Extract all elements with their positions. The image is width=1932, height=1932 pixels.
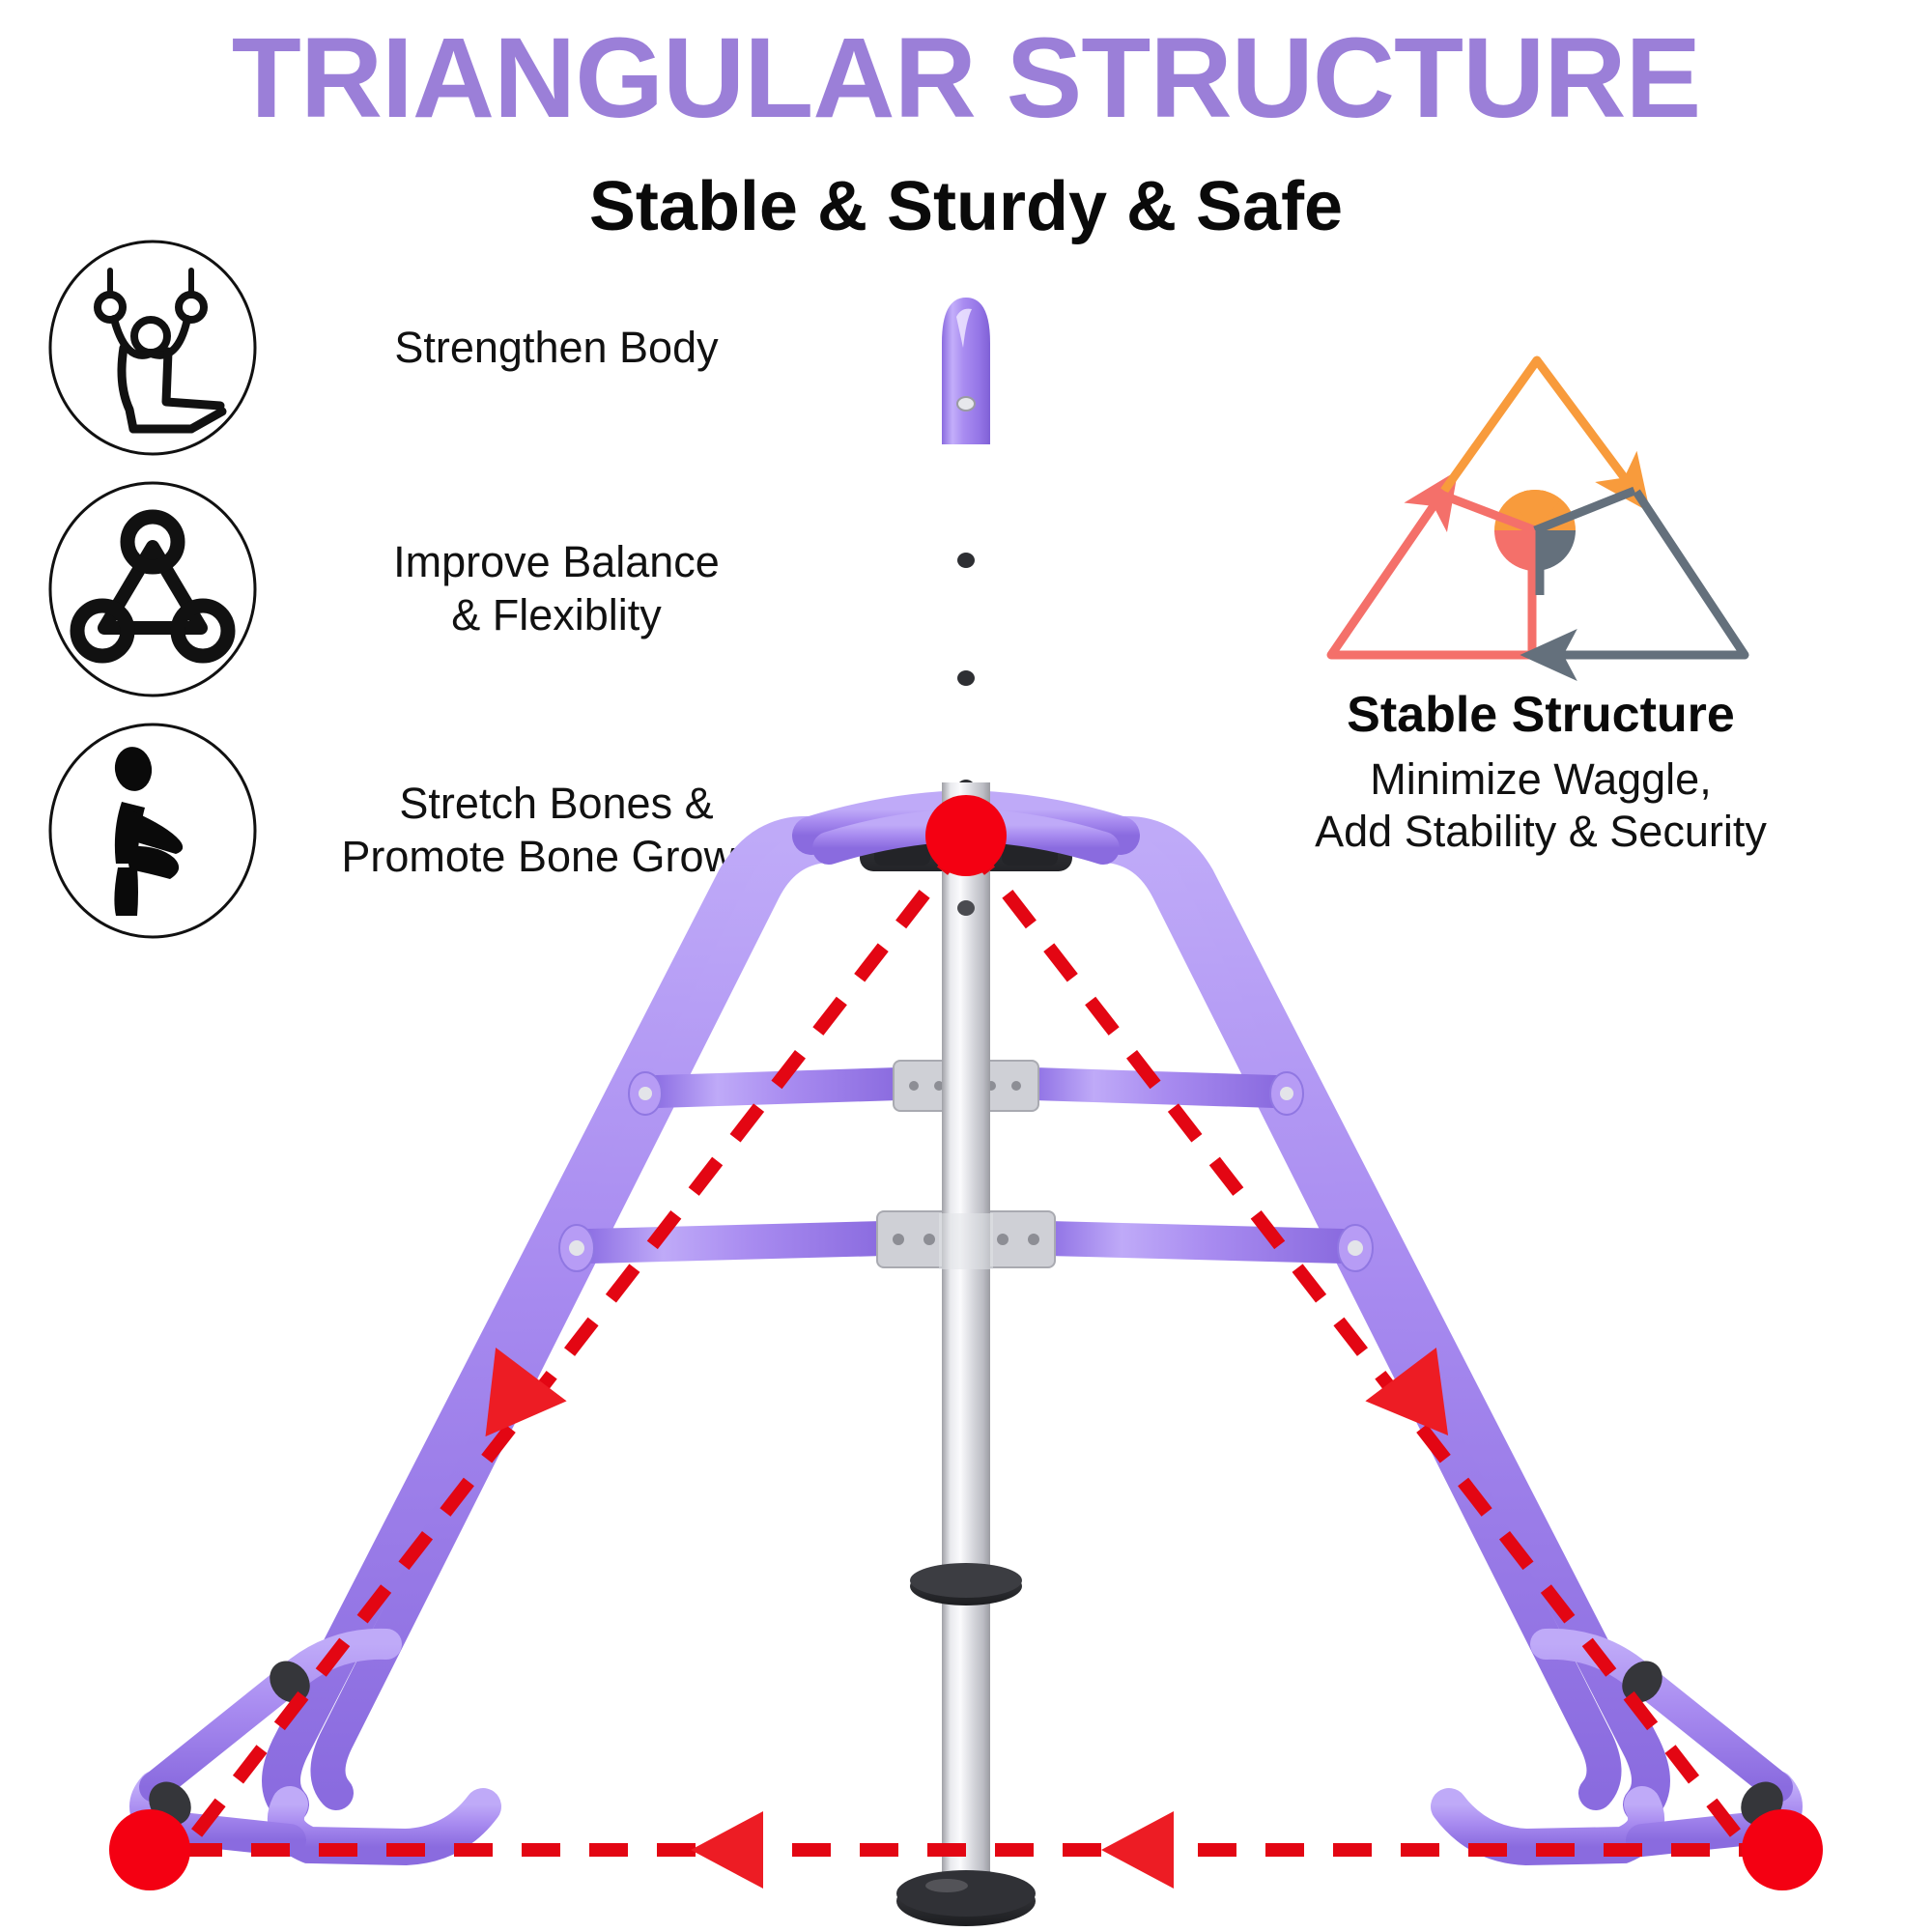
arrow-base-right [1101,1811,1174,1889]
page-subtitle: Stable & Sturdy & Safe [0,172,1932,241]
infographic-canvas: TRIANGULAR STRUCTURE Stable & Sturdy & S… [0,0,1932,1932]
arrow-base-left [691,1811,763,1889]
right-leg-assembly [1106,836,1792,1847]
triangle-apex-vertex-marker [925,795,1007,876]
guide-line-right [966,840,1748,1850]
pole-hole [957,397,975,411]
page-title: TRIANGULAR STRUCTURE [0,21,1932,135]
guide-line-left [184,840,966,1850]
pole-hole [957,553,975,568]
triangle-left-vertex-marker [109,1809,190,1890]
triangle-right-vertex-marker [1742,1809,1823,1890]
pole-hole [957,670,975,686]
pole-hole [957,900,975,916]
left-leg-assembly [140,836,826,1847]
product-illustration [0,241,1932,1932]
